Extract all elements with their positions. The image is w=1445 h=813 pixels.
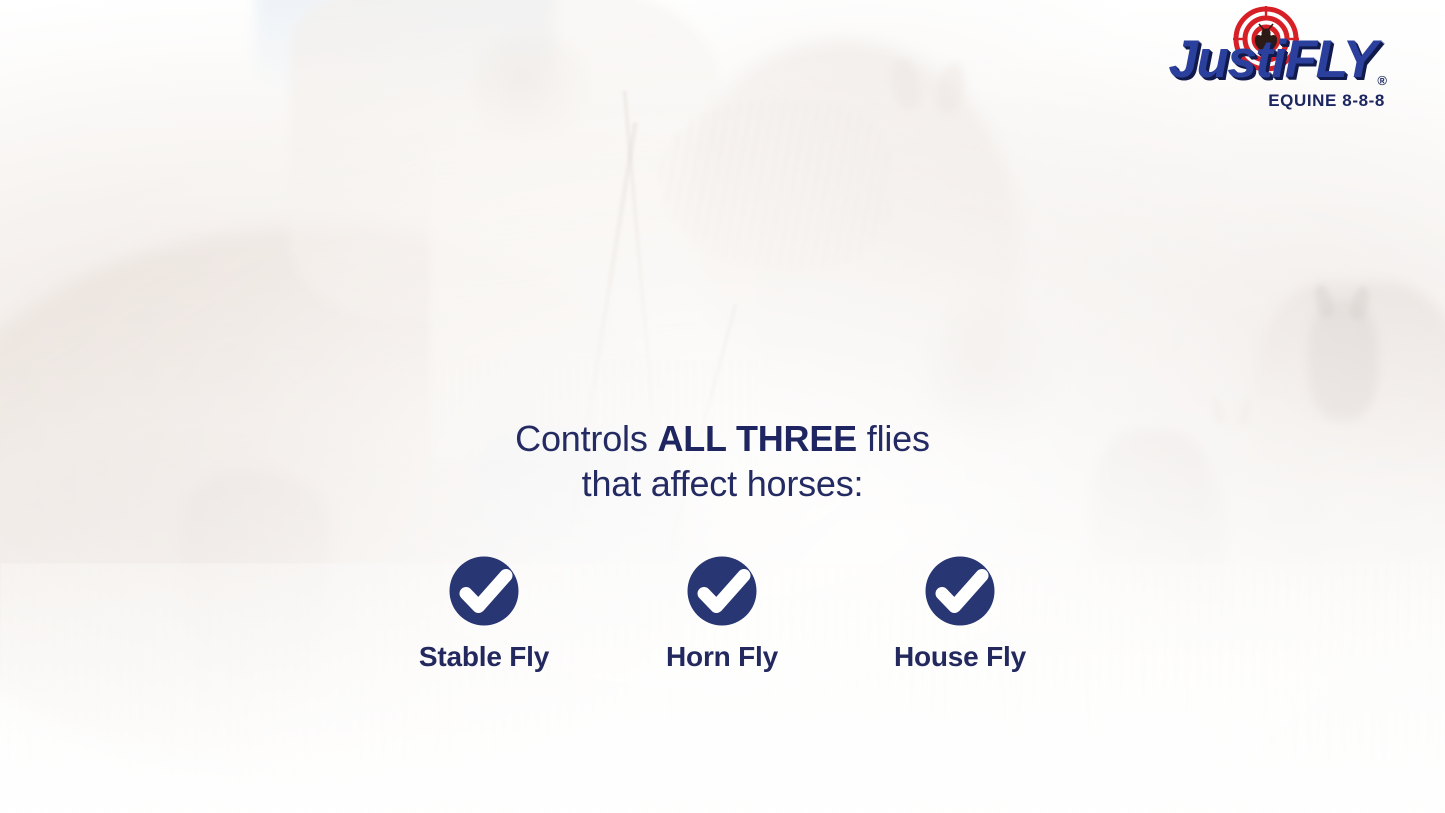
checklist-item: House Fly (848, 556, 1072, 672)
logo-text-fly: FLY (1285, 30, 1377, 89)
headline-line-2: that affect horses: (0, 461, 1445, 506)
headline-prefix: Controls (515, 418, 657, 459)
headline-line-1: Controls ALL THREE flies (0, 416, 1445, 461)
registered-trademark-icon: ® (1377, 73, 1387, 88)
check-circle-icon (925, 556, 995, 626)
checklist-item-label: Horn Fly (666, 642, 778, 672)
fly-checklist: Stable FlyHorn FlyHouse Fly (372, 556, 1072, 672)
justifly-logo[interactable]: JustiFLY® EQUINE 8-8-8 (1137, 26, 1387, 130)
check-circle-icon (687, 556, 757, 626)
checklist-item-label: Stable Fly (419, 642, 549, 672)
headline: Controls ALL THREE flies that affect hor… (0, 416, 1445, 506)
advertisement-slide: JustiFLY® EQUINE 8-8-8 Controls ALL THRE… (0, 0, 1445, 813)
headline-suffix: flies (857, 418, 930, 459)
slide-content: JustiFLY® EQUINE 8-8-8 Controls ALL THRE… (0, 0, 1445, 813)
checklist-item: Stable Fly (372, 556, 596, 672)
check-circle-icon (449, 556, 519, 626)
checklist-item: Horn Fly (610, 556, 834, 672)
checklist-item-label: House Fly (894, 642, 1026, 672)
logo-text: JustiFLY (1169, 32, 1377, 88)
headline-emphasis: ALL THREE (657, 418, 857, 459)
logo-tagline: EQUINE 8-8-8 (1137, 91, 1387, 111)
logo-wordmark: JustiFLY® (1137, 26, 1387, 88)
logo-text-justi: Justi (1169, 30, 1285, 89)
